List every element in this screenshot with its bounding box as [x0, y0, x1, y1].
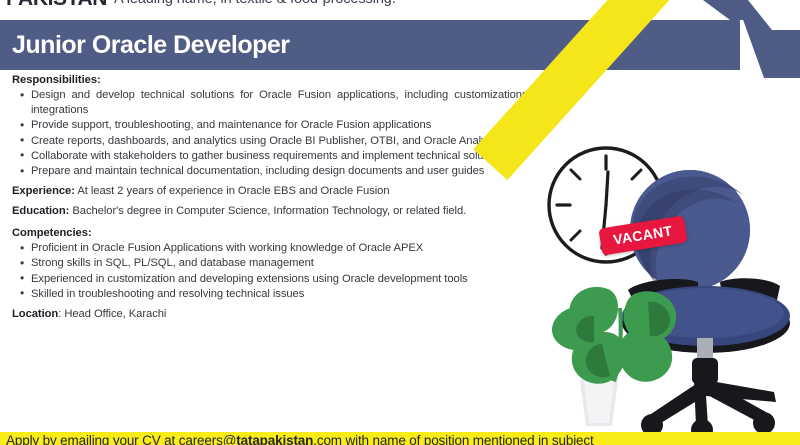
location-value: : Head Office, Karachi	[58, 308, 166, 320]
monstera-plant-icon	[552, 287, 676, 426]
competencies-list: Proficient in Oracle Fusion Applications…	[12, 241, 552, 302]
education-label: Education:	[12, 205, 69, 217]
responsibilities-list: Design and develop technical solutions f…	[12, 88, 552, 179]
list-item: Strong skills in SQL, PL/SQL, and databa…	[12, 256, 552, 271]
competencies-heading: Competencies:	[12, 227, 552, 239]
apply-cta-bar: Apply by emailing your CV at careers@tat…	[0, 432, 800, 445]
list-item: Prepare and maintain technical documenta…	[12, 164, 552, 179]
cta-prefix: Apply by emailing your CV at careers@	[6, 433, 236, 445]
page-title: Junior Oracle Developer	[0, 31, 290, 60]
experience-line: Experience: At least 2 years of experien…	[12, 183, 532, 199]
apply-instructions: Apply by emailing your CV at careers@tat…	[6, 433, 594, 445]
location-line: Location: Head Office, Karachi	[12, 306, 552, 322]
responsibilities-heading: Responsibilities:	[12, 74, 552, 86]
brand-tagline: A leading name, in textile & food-proces…	[114, 0, 396, 7]
experience-value: At least 2 years of experience in Oracle…	[75, 185, 390, 197]
cta-email-domain: tatapakistan	[236, 433, 313, 445]
list-item: Collaborate with stakeholders to gather …	[12, 149, 552, 164]
education-line: Education: Bachelor's degree in Computer…	[12, 203, 532, 219]
list-item: Skilled in troubleshooting and resolving…	[12, 287, 552, 302]
brand-tagline-row: PAKISTAN A leading name, in textile & fo…	[0, 0, 800, 10]
list-item: Experienced in customization and develop…	[12, 272, 552, 287]
list-item: Proficient in Oracle Fusion Applications…	[12, 241, 552, 256]
illustration-group: VACANT	[530, 130, 800, 435]
job-description-body: Responsibilities: Design and develop tec…	[12, 74, 552, 325]
brand-name: PAKISTAN	[6, 0, 107, 10]
education-value: Bachelor's degree in Computer Science, I…	[69, 205, 466, 217]
list-item: Create reports, dashboards, and analytic…	[12, 134, 552, 149]
experience-label: Experience:	[12, 185, 75, 197]
list-item: Design and develop technical solutions f…	[12, 88, 552, 118]
list-item: Provide support, troubleshooting, and ma…	[12, 118, 552, 133]
location-label: Location	[12, 308, 58, 320]
cta-suffix: .com with name of position mentioned in …	[313, 433, 593, 445]
job-poster: PAKISTAN A leading name, in textile & fo…	[0, 0, 800, 445]
title-bar-arrow	[712, 20, 738, 70]
